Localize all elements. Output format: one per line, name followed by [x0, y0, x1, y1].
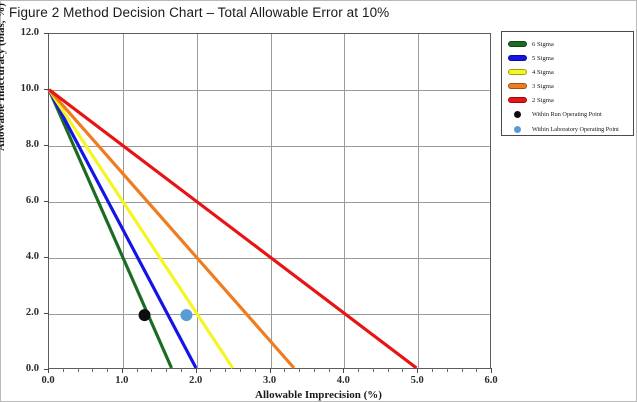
legend-item-label: 6 Sigma — [532, 41, 554, 48]
x-tick-mark — [48, 368, 49, 373]
x-tick-mark-minor — [358, 368, 359, 372]
x-tick-label: 2.0 — [176, 375, 216, 386]
y-axis-title: Allowable Inaccuracy (bias, %) — [0, 3, 7, 151]
x-tick-mark-minor — [107, 368, 108, 372]
x-tick-mark-minor — [63, 368, 64, 372]
legend-item-4[interactable]: 2 Sigma — [508, 93, 629, 107]
legend-line-swatch — [508, 55, 527, 61]
x-tick-mark — [270, 368, 271, 373]
x-tick-mark — [343, 368, 344, 373]
x-tick-mark-minor — [210, 368, 211, 372]
x-tick-mark-minor — [255, 368, 256, 372]
x-axis-title: Allowable Imprecision (%) — [1, 389, 636, 401]
chart-title: Figure 2 Method Decision Chart – Total A… — [9, 5, 389, 20]
x-tick-mark-minor — [447, 368, 448, 372]
y-tick-label: 0.0 — [26, 363, 39, 374]
y-tick-mark — [44, 313, 49, 314]
y-tick-label: 2.0 — [26, 307, 39, 318]
y-tick-mark — [44, 33, 49, 34]
x-tick-mark — [196, 368, 197, 373]
x-tick-mark-minor — [299, 368, 300, 372]
x-tick-label: 1.0 — [102, 375, 142, 386]
y-tick-label: 4.0 — [26, 251, 39, 262]
x-tick-mark — [122, 368, 123, 373]
legend-item-2[interactable]: 4 Sigma — [508, 65, 629, 79]
y-tick-label: 12.0 — [21, 27, 39, 38]
chart-page: Figure 2 Method Decision Chart – Total A… — [0, 0, 637, 402]
x-tick-mark-minor — [329, 368, 330, 372]
x-tick-mark-minor — [240, 368, 241, 372]
x-tick-label: 3.0 — [250, 375, 290, 386]
legend-dot-wrap — [508, 126, 527, 133]
legend-line-swatch — [508, 69, 527, 75]
legend-box: 6 Sigma5 Sigma4 Sigma3 Sigma2 SigmaWithi… — [501, 31, 634, 136]
series-line-5-sigma — [49, 90, 196, 368]
legend-line-swatch — [508, 83, 527, 89]
legend-item-1[interactable]: 5 Sigma — [508, 51, 629, 65]
y-tick-mark — [44, 257, 49, 258]
series-line-4-sigma — [49, 90, 233, 368]
series-line-3-sigma — [49, 90, 294, 368]
legend-item-label: 4 Sigma — [532, 69, 554, 76]
x-tick-mark-minor — [225, 368, 226, 372]
legend-item-3[interactable]: 3 Sigma — [508, 79, 629, 93]
legend-item-6[interactable]: Within Laboratory Operating Point — [508, 122, 629, 137]
y-tick-label: 10.0 — [21, 83, 39, 94]
x-tick-mark-minor — [432, 368, 433, 372]
legend-line-swatch — [508, 97, 527, 103]
x-tick-mark-minor — [92, 368, 93, 372]
x-tick-mark-minor — [388, 368, 389, 372]
y-tick-mark — [44, 145, 49, 146]
x-tick-mark-minor — [462, 368, 463, 372]
legend-item-label: Within Run Operating Point — [532, 111, 602, 118]
y-tick-label: 6.0 — [26, 195, 39, 206]
legend-item-label: 2 Sigma — [532, 97, 554, 104]
legend-item-label: 3 Sigma — [532, 83, 554, 90]
x-tick-mark-minor — [476, 368, 477, 372]
y-tick-label: 8.0 — [26, 139, 39, 150]
x-tick-mark-minor — [373, 368, 374, 372]
x-tick-mark-minor — [181, 368, 182, 372]
operating-point-within-laboratory[interactable] — [180, 309, 192, 321]
y-tick-mark — [44, 89, 49, 90]
x-tick-mark-minor — [314, 368, 315, 372]
y-tick-mark — [44, 201, 49, 202]
series-line-6-sigma — [49, 90, 172, 368]
x-tick-mark-minor — [166, 368, 167, 372]
x-tick-label: 5.0 — [397, 375, 437, 386]
x-tick-label: 6.0 — [471, 375, 511, 386]
operating-point-within-run[interactable] — [139, 309, 151, 321]
legend-item-0[interactable]: 6 Sigma — [508, 37, 629, 51]
plot-area — [48, 33, 491, 369]
series-layer — [49, 34, 490, 368]
legend-item-label: 5 Sigma — [532, 55, 554, 62]
legend-item-5[interactable]: Within Run Operating Point — [508, 107, 629, 122]
x-tick-mark — [417, 368, 418, 373]
legend-dot-swatch — [514, 126, 521, 133]
legend-dot-wrap — [508, 111, 527, 118]
x-tick-mark — [491, 368, 492, 373]
x-tick-mark-minor — [78, 368, 79, 372]
legend-dot-swatch — [514, 111, 521, 118]
legend-line-swatch — [508, 41, 527, 47]
x-tick-label: 4.0 — [323, 375, 363, 386]
x-tick-mark-minor — [151, 368, 152, 372]
x-tick-mark-minor — [402, 368, 403, 372]
x-tick-mark-minor — [284, 368, 285, 372]
x-tick-mark-minor — [137, 368, 138, 372]
x-tick-label: 0.0 — [28, 375, 68, 386]
series-line-2-sigma — [49, 90, 417, 368]
legend-item-label: Within Laboratory Operating Point — [532, 126, 619, 133]
